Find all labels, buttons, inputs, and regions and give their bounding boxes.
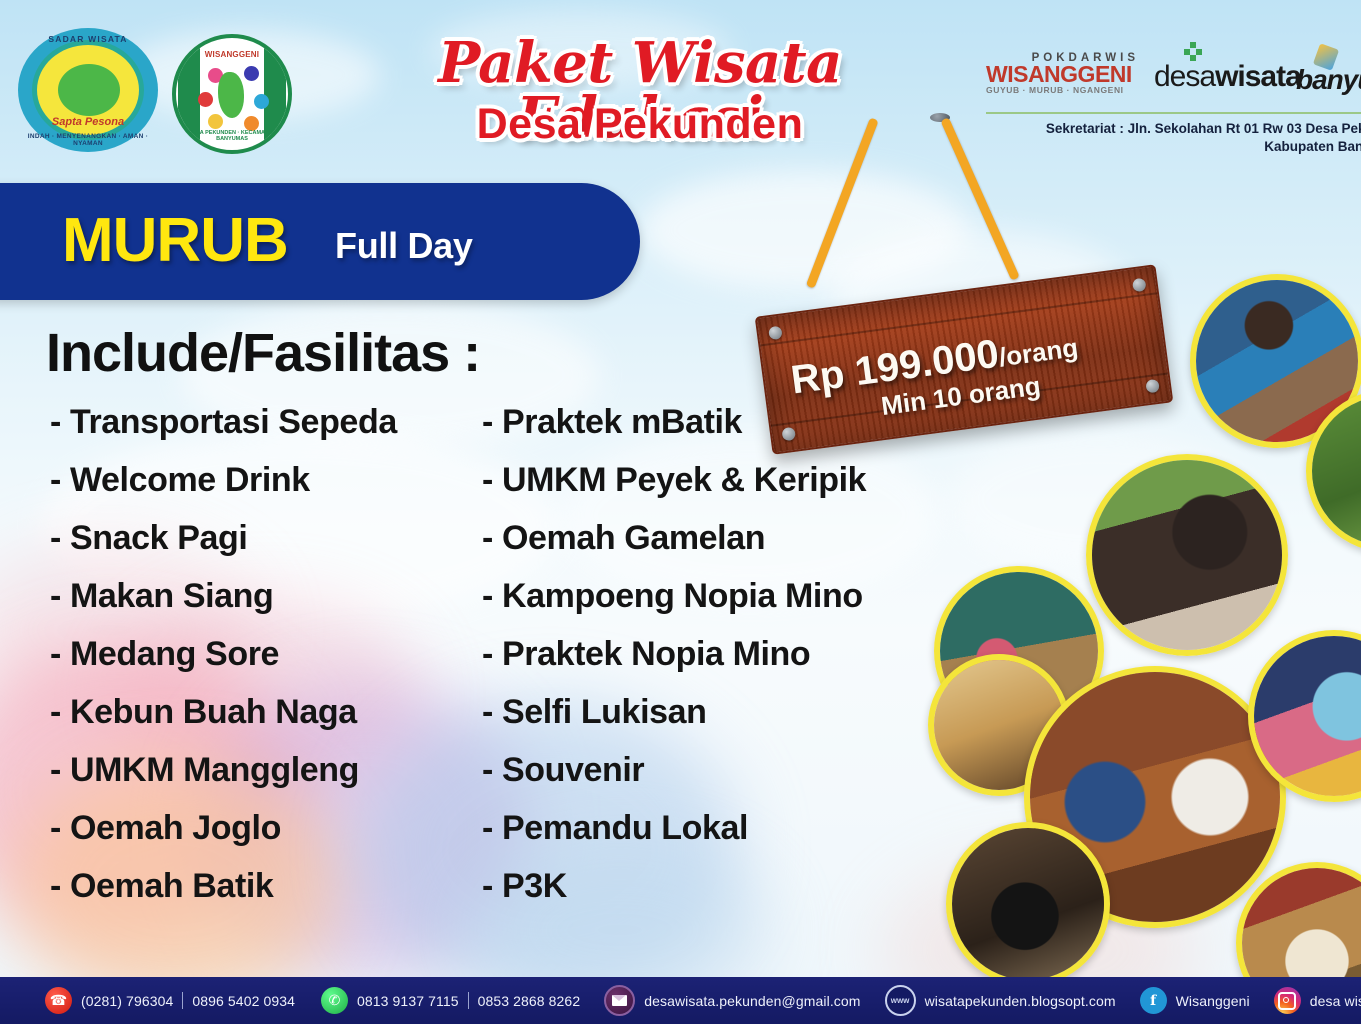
whatsapp-icon: ✆ [321,987,348,1014]
list-item: - Makan Siang [50,579,490,613]
list-item: - UMKM Peyek & Keripik [482,463,952,497]
sadar-wisata-top-text: SADAR WISATA [18,34,158,44]
list-item: - Kampoeng Nopia Mino [482,579,952,613]
list-item: - P3K [482,869,952,903]
desa-wisata-logo: desawisata [1154,60,1301,94]
sadar-wisata-logo: SADAR WISATA Sapta Pesona INDAH · MENYEN… [18,28,158,152]
divider [468,992,469,1009]
wisanggeni-logo-top-text: WISANGGENI [176,50,288,59]
screw-icon [768,326,783,341]
email-address: desawisata.pekunden@gmail.com [644,993,860,1009]
list-item: - Praktek Nopia Mino [482,637,952,671]
rope-right [940,117,1019,281]
list-item: - Transportasi Sepeda [50,405,490,439]
photo-nopia-making [1086,454,1288,656]
list-item: - Medang Sore [50,637,490,671]
whatsapp-number-1: 0813 9137 7115 [357,993,459,1009]
instagram-contact[interactable]: desa wisata pekunden [1274,987,1361,1014]
globe-icon: www [885,985,916,1016]
facebook-handle: Wisanggeni [1176,993,1250,1009]
list-item: - Souvenir [482,753,952,787]
list-item: - UMKM Manggleng [50,753,490,787]
pokdarwis-tagline: GUYUB · MURUB · NGANGENI [986,85,1141,95]
list-item: - Oemah Batik [50,869,490,903]
facebook-icon: f [1140,987,1167,1014]
divider [182,992,183,1009]
include-heading: Include/Fasilitas : [46,322,480,384]
desawisata-bold: wisata [1215,60,1301,93]
list-item: - Welcome Drink [50,463,490,497]
whatsapp-contact[interactable]: ✆ 0813 9137 7115 0853 2868 8262 [321,987,580,1014]
banyumas-logo: banyu [1296,64,1361,96]
phone-mobile: 0896 5402 0934 [192,993,295,1009]
package-name: MURUB [62,205,288,276]
rope-left [806,117,879,288]
phone-landline: (0281) 796304 [81,993,173,1009]
photo-dragon-fruit-garden [1306,390,1361,552]
phone-contact[interactable]: ☎ (0281) 796304 0896 5402 0934 [45,987,295,1014]
list-item: - Oemah Gamelan [482,521,952,555]
photo-pottery-craft [946,822,1110,986]
desawisata-light: desa [1154,60,1215,93]
website-url: wisatapekunden.blogsopt.com [925,993,1116,1009]
list-item: - Praktek mBatik [482,405,952,439]
photo-selfie-mural [1248,630,1361,802]
whatsapp-number-2: 0853 2868 8262 [478,993,581,1009]
instagram-icon [1274,987,1301,1014]
facilities-column-right: - Praktek mBatik - UMKM Peyek & Keripik … [482,405,952,927]
list-item: - Selfi Lukisan [482,695,952,729]
sapta-pesona-text: Sapta Pesona [18,116,158,128]
list-item: - Snack Pagi [50,521,490,555]
sadar-wisata-bottom-text: INDAH · MENYENANGKAN · AMAN · NYAMAN [18,133,158,147]
list-item: - Oemah Joglo [50,811,490,845]
email-contact[interactable]: desawisata.pekunden@gmail.com [604,985,860,1016]
desa-wisata-mark-icon [1182,42,1204,62]
facebook-contact[interactable]: f Wisanggeni [1140,987,1250,1014]
contact-footer: ☎ (0281) 796304 0896 5402 0934 ✆ 0813 91… [0,977,1361,1024]
instagram-handle: desa wisata pekunden [1310,993,1361,1009]
list-item: - Kebun Buah Naga [50,695,490,729]
website-contact[interactable]: www wisatapekunden.blogsopt.com [885,985,1116,1016]
poster-canvas: SADAR WISATA Sapta Pesona INDAH · MENYEN… [0,0,1361,1024]
pokdarwis-name: WISANGGENI [986,64,1141,85]
package-banner: MURUB Full Day [0,183,640,300]
photo-collage [918,262,1361,962]
phone-icon: ☎ [45,987,72,1014]
wisanggeni-village-logo: WISANGGENI DESA PEKUNDEN · KECAMATAN BAN… [172,34,292,154]
pokdarwis-wisanggeni-logo: POKDARWIS WISANGGENI GUYUB · MURUB · NGA… [986,52,1141,95]
facilities-column-left: - Transportasi Sepeda - Welcome Drink - … [50,405,490,927]
list-item: - Pemandu Lokal [482,811,952,845]
email-icon [604,985,635,1016]
wisanggeni-logo-bottom-text: DESA PEKUNDEN · KECAMATAN BANYUMAS [176,130,288,142]
package-duration: Full Day [335,225,473,267]
